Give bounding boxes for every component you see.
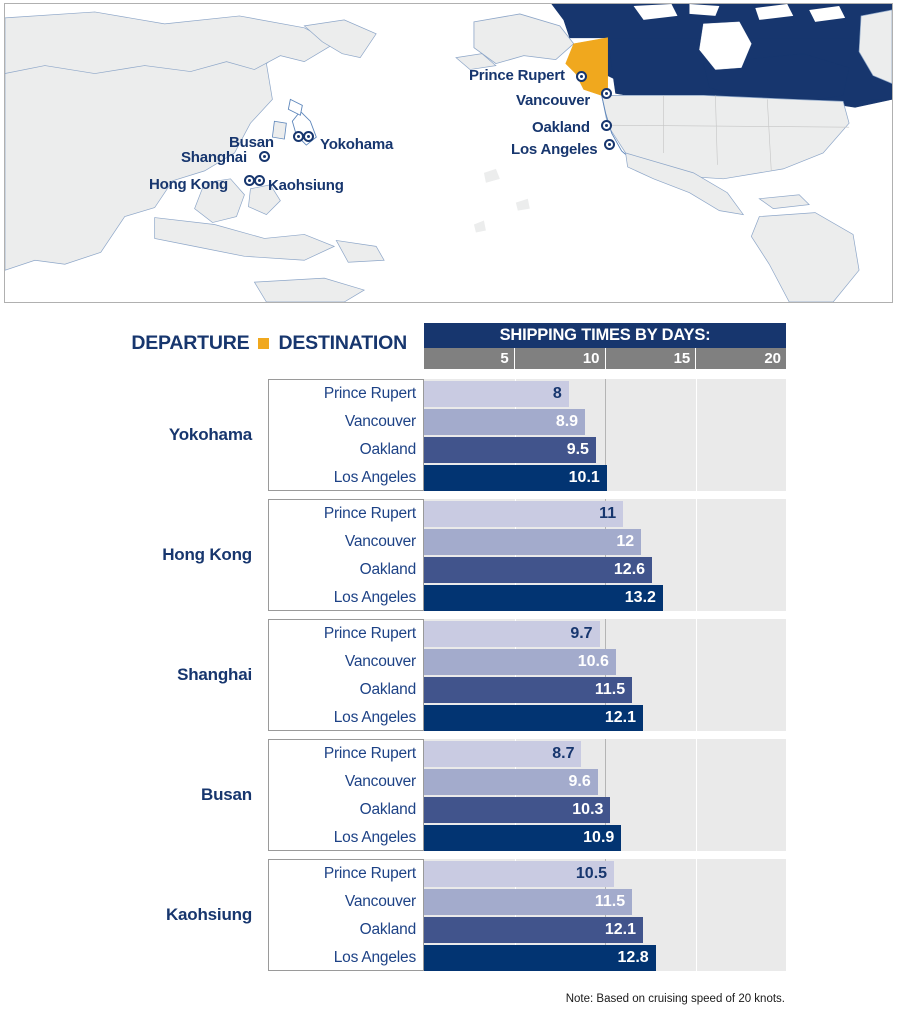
bar-prince-rupert: 11 <box>424 501 623 527</box>
group-rows: Prince Rupert8Vancouver8.9Oakland9.5Los … <box>0 379 897 491</box>
bar-los-angeles: 12.8 <box>424 945 656 971</box>
destination-label: Oakland <box>268 557 416 583</box>
bar-vancouver: 8.9 <box>424 409 585 435</box>
city-marker-kaohsiung <box>254 175 265 186</box>
chart-group: KaohsiungPrince Rupert10.5Vancouver11.5O… <box>0 859 897 971</box>
city-marker-oakland <box>601 120 612 131</box>
chart-title: SHIPPING TIMES BY DAYS: <box>424 323 786 348</box>
city-label-yokohama: Yokohama <box>320 137 393 152</box>
destination-label: Los Angeles <box>268 465 416 491</box>
table-row[interactable]: Oakland10.3 <box>0 797 897 823</box>
group-rows: Prince Rupert11Vancouver12Oakland12.6Los… <box>0 499 897 611</box>
table-row[interactable]: Prince Rupert8 <box>0 381 897 407</box>
city-label-busan: Busan <box>229 135 274 150</box>
bar-prince-rupert: 9.7 <box>424 621 600 647</box>
destination-label: Prince Rupert <box>268 501 416 527</box>
table-row[interactable]: Vancouver12 <box>0 529 897 555</box>
group-rows: Prince Rupert8.7Vancouver9.6Oakland10.3L… <box>0 739 897 851</box>
bar-los-angeles: 12.1 <box>424 705 643 731</box>
table-row[interactable]: Vancouver9.6 <box>0 769 897 795</box>
table-row[interactable]: Prince Rupert11 <box>0 501 897 527</box>
table-row[interactable]: Oakland11.5 <box>0 677 897 703</box>
table-row[interactable]: Prince Rupert8.7 <box>0 741 897 767</box>
destination-label: Vancouver <box>268 889 416 915</box>
bar-oakland: 12.1 <box>424 917 643 943</box>
destination-label: Oakland <box>268 797 416 823</box>
bar-vancouver: 9.6 <box>424 769 598 795</box>
table-row[interactable]: Los Angeles12.8 <box>0 945 897 971</box>
city-label-los-angeles: Los Angeles <box>511 142 597 157</box>
chart-group: Hong KongPrince Rupert11Vancouver12Oakla… <box>0 499 897 611</box>
table-row[interactable]: Vancouver10.6 <box>0 649 897 675</box>
city-marker-yokohama <box>303 131 314 142</box>
departure-label: DEPARTURE <box>131 332 249 355</box>
chart-footnote: Note: Based on cruising speed of 20 knot… <box>566 993 785 1005</box>
destination-label: Vancouver <box>268 409 416 435</box>
map-graphic <box>5 4 892 302</box>
destination-label: DESTINATION <box>278 332 407 355</box>
bar-oakland: 9.5 <box>424 437 596 463</box>
bar-prince-rupert: 10.5 <box>424 861 614 887</box>
world-map-panel: Prince Rupert Vancouver Oakland Los Ange… <box>4 3 893 303</box>
destination-label: Prince Rupert <box>268 621 416 647</box>
city-marker-prince-rupert <box>576 71 587 82</box>
bar-vancouver: 11.5 <box>424 889 632 915</box>
destination-label: Prince Rupert <box>268 741 416 767</box>
bar-los-angeles: 10.1 <box>424 465 607 491</box>
destination-label: Prince Rupert <box>268 381 416 407</box>
departure-destination-legend: DEPARTURE DESTINATION <box>131 332 407 355</box>
destination-label: Vancouver <box>268 649 416 675</box>
destination-label: Oakland <box>268 437 416 463</box>
chart-group: YokohamaPrince Rupert8Vancouver8.9Oaklan… <box>0 379 897 491</box>
destination-label: Los Angeles <box>268 945 416 971</box>
table-row[interactable]: Los Angeles13.2 <box>0 585 897 611</box>
bar-vancouver: 10.6 <box>424 649 616 675</box>
table-row[interactable]: Vancouver8.9 <box>0 409 897 435</box>
bar-oakland: 10.3 <box>424 797 610 823</box>
destination-label: Los Angeles <box>268 825 416 851</box>
destination-label: Prince Rupert <box>268 861 416 887</box>
city-label-vancouver: Vancouver <box>516 93 590 108</box>
bar-prince-rupert: 8.7 <box>424 741 581 767</box>
city-label-shanghai: Shanghai <box>181 150 247 165</box>
destination-label: Vancouver <box>268 529 416 555</box>
shipping-times-chart: DEPARTURE DESTINATION SHIPPING TIMES BY … <box>0 303 897 1024</box>
city-label-hong-kong: Hong Kong <box>149 177 228 192</box>
legend-swatch-icon <box>258 338 269 349</box>
bar-oakland: 11.5 <box>424 677 632 703</box>
axis-tick-10: 10 <box>515 348 606 369</box>
group-rows: Prince Rupert10.5Vancouver11.5Oakland12.… <box>0 859 897 971</box>
city-marker-los-angeles <box>604 139 615 150</box>
axis-tick-20: 20 <box>696 348 786 369</box>
city-marker-shanghai <box>259 151 270 162</box>
table-row[interactable]: Oakland12.6 <box>0 557 897 583</box>
table-row[interactable]: Los Angeles12.1 <box>0 705 897 731</box>
table-row[interactable]: Prince Rupert10.5 <box>0 861 897 887</box>
destination-label: Los Angeles <box>268 705 416 731</box>
city-label-kaohsiung: Kaohsiung <box>268 178 344 193</box>
destination-label: Vancouver <box>268 769 416 795</box>
city-label-oakland: Oakland <box>532 120 590 135</box>
bar-los-angeles: 10.9 <box>424 825 621 851</box>
city-marker-vancouver <box>601 88 612 99</box>
destination-label: Los Angeles <box>268 585 416 611</box>
table-row[interactable]: Oakland9.5 <box>0 437 897 463</box>
table-row[interactable]: Vancouver11.5 <box>0 889 897 915</box>
city-label-prince-rupert: Prince Rupert <box>469 68 565 83</box>
axis-tick-5: 5 <box>424 348 515 369</box>
bar-prince-rupert: 8 <box>424 381 569 407</box>
axis-tick-15: 15 <box>606 348 697 369</box>
group-rows: Prince Rupert9.7Vancouver10.6Oakland11.5… <box>0 619 897 731</box>
table-row[interactable]: Prince Rupert9.7 <box>0 621 897 647</box>
chart-axis-ticks: 5101520 <box>424 348 786 369</box>
table-row[interactable]: Los Angeles10.1 <box>0 465 897 491</box>
table-row[interactable]: Los Angeles10.9 <box>0 825 897 851</box>
bar-oakland: 12.6 <box>424 557 652 583</box>
bar-los-angeles: 13.2 <box>424 585 663 611</box>
chart-group: BusanPrince Rupert8.7Vancouver9.6Oakland… <box>0 739 897 851</box>
destination-label: Oakland <box>268 677 416 703</box>
destination-label: Oakland <box>268 917 416 943</box>
table-row[interactable]: Oakland12.1 <box>0 917 897 943</box>
bar-vancouver: 12 <box>424 529 641 555</box>
chart-group: ShanghaiPrince Rupert9.7Vancouver10.6Oak… <box>0 619 897 731</box>
